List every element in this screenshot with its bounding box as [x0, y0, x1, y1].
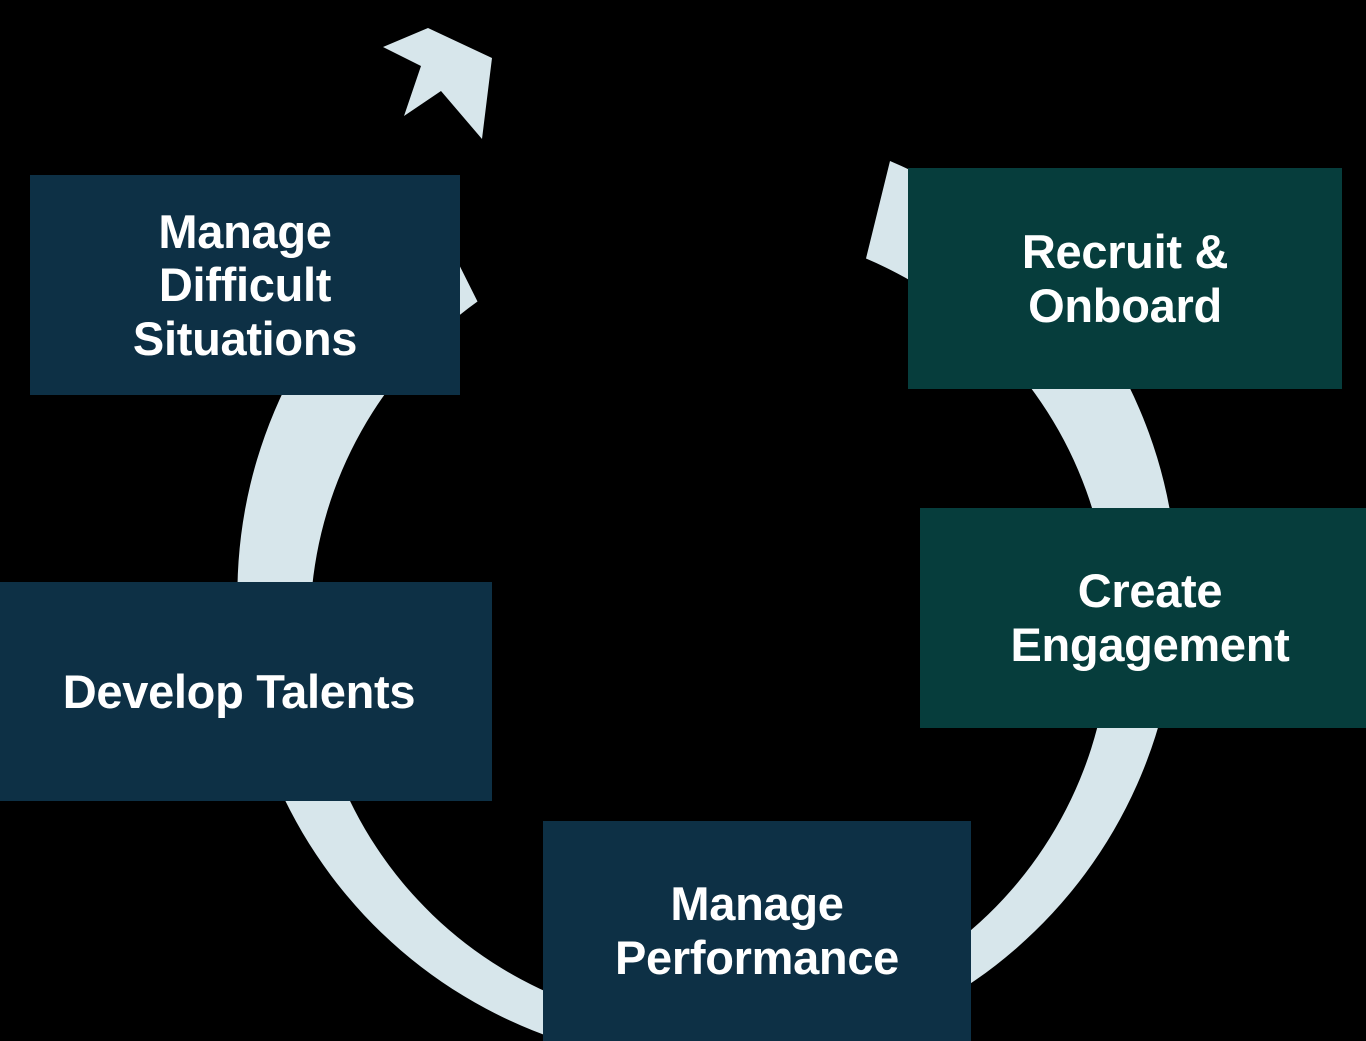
- node-label-recruit-onboard: Recruit & Onboard: [1022, 225, 1228, 332]
- node-recruit-onboard[interactable]: Recruit & Onboard: [908, 168, 1342, 389]
- node-develop-talents[interactable]: Develop Talents: [0, 582, 492, 801]
- node-manage-difficult-situations[interactable]: Manage Difficult Situations: [30, 175, 460, 395]
- node-manage-performance[interactable]: Manage Performance: [543, 821, 971, 1041]
- node-create-engagement[interactable]: Create Engagement: [920, 508, 1366, 728]
- arrow-head: [383, 28, 492, 139]
- node-label-manage-performance: Manage Performance: [615, 877, 899, 984]
- node-label-develop-talents: Develop Talents: [63, 665, 415, 719]
- node-label-manage-difficult-situations: Manage Difficult Situations: [133, 205, 357, 366]
- node-label-create-engagement: Create Engagement: [1010, 564, 1289, 671]
- cycle-diagram: Manage Difficult Situations Recruit & On…: [0, 0, 1366, 1041]
